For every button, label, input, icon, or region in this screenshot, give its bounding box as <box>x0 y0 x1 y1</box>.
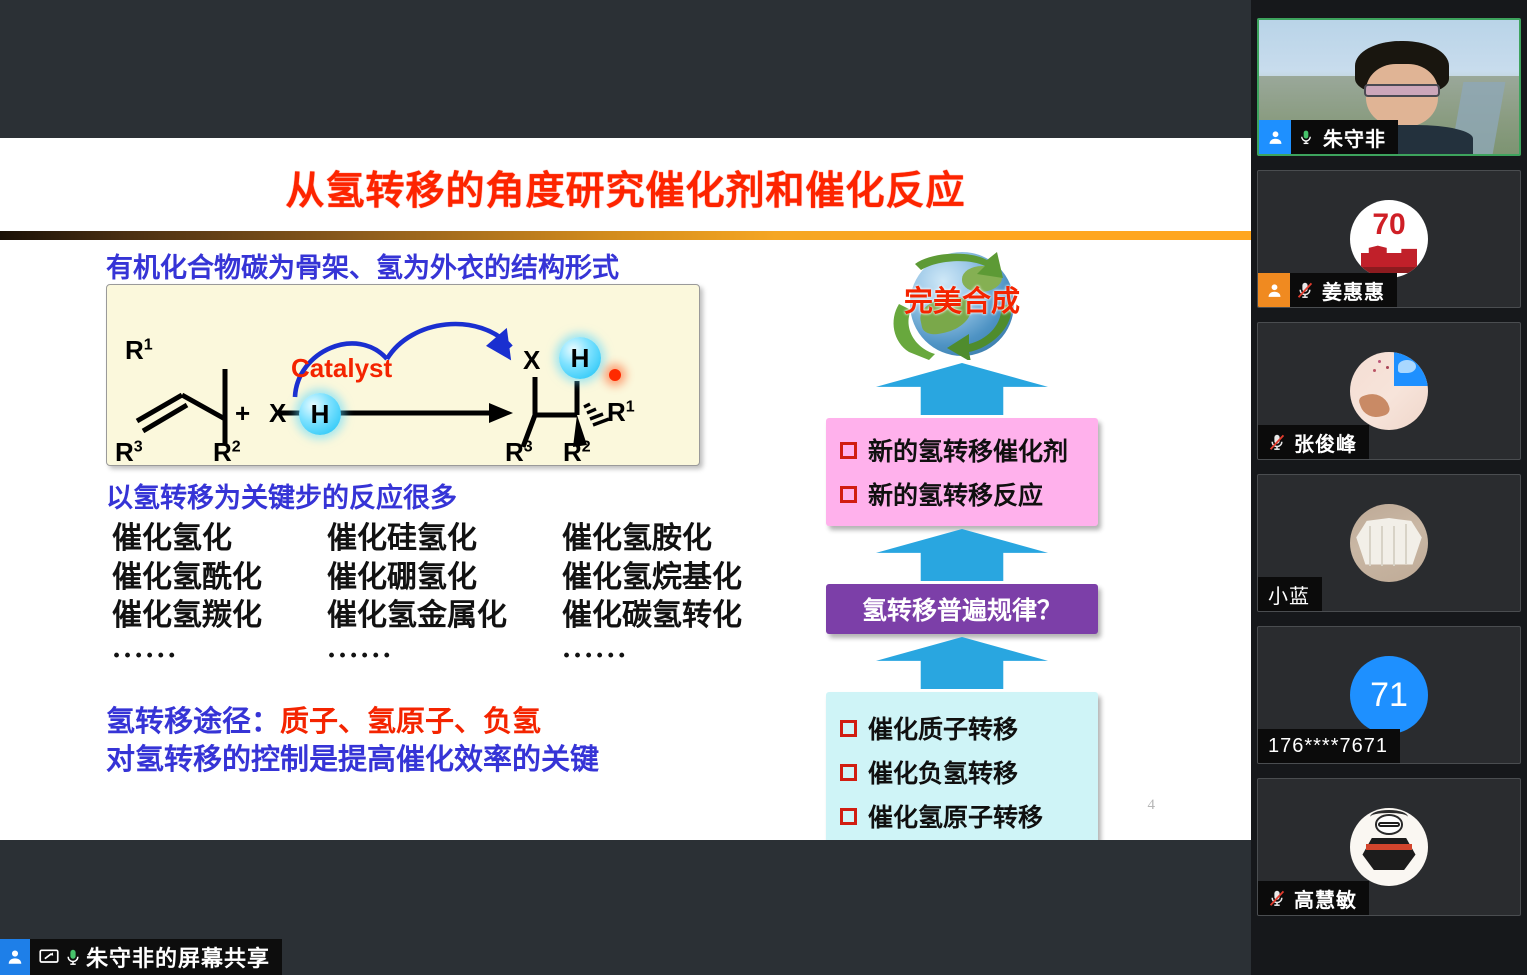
reaction-item: 催化氢化 <box>112 521 327 558</box>
participant-namebar: 小蓝 <box>1258 577 1322 611</box>
person-glyph <box>1267 129 1284 146</box>
flow-box-general-rules: 氢转移普遍规律？ <box>826 584 1098 634</box>
participant-namebar: 姜惠惠 <box>1258 273 1397 307</box>
label-r2-product: R2 <box>563 437 591 466</box>
participant-name: 朱守非 <box>1321 123 1398 152</box>
microphone-icon <box>64 946 82 968</box>
label-r1-left: R1 <box>125 335 153 366</box>
square-bullet-icon <box>840 764 857 781</box>
flow-bullet-label: 新的氢转移催化剂 <box>868 432 1068 468</box>
subtitle-structure-form: 有机化合物碳为骨架、氢为外衣的结构形式 <box>106 246 619 285</box>
square-bullet-icon <box>840 808 857 825</box>
flow-arrow-up <box>876 529 1048 581</box>
avatar-photo-leaf <box>1358 389 1391 421</box>
square-bullet-icon <box>840 720 857 737</box>
participant-namebar: 朱守非 <box>1259 120 1398 154</box>
flow-bullet: 新的氢转移反应 <box>840 472 1092 516</box>
participant-name: 小蓝 <box>1258 580 1322 609</box>
participant-tile[interactable]: 朱守非 <box>1257 18 1521 156</box>
footer-line-1: 氢转移途径：质子、氢原子、负氢 <box>106 702 599 740</box>
flow-box-transfer-types: 催化质子转移 催化负氢转移 催化氢原子转移 <box>826 692 1098 840</box>
footer-pathways-label: 氢转移途径： <box>106 704 280 738</box>
flow-bullet: 新的氢转移催化剂 <box>840 428 1092 472</box>
participant-name: 高慧敏 <box>1292 884 1369 913</box>
flow-bullet: 催化氢原子转移 <box>840 794 1092 838</box>
avatar-photo-marks <box>1378 360 1381 363</box>
participant-namebar: 高慧敏 <box>1258 881 1369 915</box>
participant-namebar: 张俊峰 <box>1258 425 1369 459</box>
radical-dot-icon <box>609 369 621 381</box>
flow-bullet: 催化质子转移 <box>840 706 1092 750</box>
participant-avatar: 70 <box>1350 200 1428 278</box>
screen-share-region: 从氢转移的角度研究催化剂和催化反应 有机化合物碳为骨架、氢为外衣的结构形式 <box>0 0 1251 975</box>
label-r3-left: R3 <box>115 437 143 466</box>
reaction-ellipsis: ······ <box>327 637 562 673</box>
reaction-ellipsis: ······ <box>112 637 327 673</box>
reaction-item: 催化碳氢转化 <box>562 598 802 635</box>
share-bar-content: 朱守非的屏幕共享 <box>30 939 282 975</box>
share-bar-label: 朱守非的屏幕共享 <box>86 941 270 973</box>
flow-bullet-label: 新的氢转移反应 <box>868 476 1043 512</box>
avatar-sketch-body <box>1362 838 1415 871</box>
avatar-logo-building <box>1361 244 1417 267</box>
label-x-product: X <box>523 345 540 376</box>
screen-share-status-bar: 朱守非的屏幕共享 <box>0 939 282 975</box>
glasses-icon <box>1364 84 1439 96</box>
person-icon <box>0 939 30 975</box>
label-plus: + <box>235 398 250 429</box>
square-bullet-icon <box>840 486 857 503</box>
mic-muted-icon[interactable] <box>1262 881 1292 915</box>
mic-muted-icon[interactable] <box>1262 425 1292 459</box>
flow-bullet-label: 催化质子转移 <box>868 710 1018 746</box>
mic-on-icon[interactable] <box>1291 120 1321 154</box>
slide-title: 从氢转移的角度研究催化剂和催化反应 <box>0 160 1251 216</box>
person-glyph <box>6 948 24 966</box>
avatar-photo-sky <box>1394 352 1428 386</box>
flow-box-label: 氢转移普遍规律？ <box>862 596 1062 625</box>
participant-avatar: 71 <box>1350 656 1428 734</box>
flow-diagram: 完美合成 新的氢转移催化剂 新的氢转移反应 氢转移普遍规律？ <box>812 248 1112 840</box>
label-x-reagent: X <box>269 398 286 429</box>
participants-filmstrip[interactable]: 朱守非 70 <box>1251 0 1527 975</box>
participant-tile[interactable]: 70 <box>1257 170 1521 308</box>
subtitle-many-reactions: 以氢转移为关键步的反应很多 <box>106 476 457 515</box>
microphone-muted-glyph <box>1296 280 1314 300</box>
flow-arrow-up <box>876 363 1048 415</box>
globe-label: 完美合成 <box>892 278 1032 320</box>
footer-pathways-values: 质子、氢原子、负氢 <box>280 704 541 738</box>
catalyst-label: Catalyst <box>291 353 392 384</box>
app-root: 从氢转移的角度研究催化剂和催化反应 有机化合物碳为骨架、氢为外衣的结构形式 <box>0 0 1527 975</box>
participant-tile[interactable]: 71 176****7671 <box>1257 626 1521 764</box>
avatar-logo-caption <box>1362 267 1415 272</box>
avatar-photo-shirt <box>1356 518 1422 566</box>
avatar-initials: 71 <box>1370 676 1408 715</box>
host-badge-icon <box>1258 273 1290 307</box>
reaction-item: 催化硼氢化 <box>327 560 562 597</box>
mic-muted-icon[interactable] <box>1290 273 1320 307</box>
title-divider <box>0 231 1251 240</box>
hydrogen-ball-reagent: H <box>299 393 341 435</box>
avatar-sketch-stripe <box>1366 844 1413 850</box>
label-r2-left: R2 <box>213 437 241 466</box>
participant-namebar: 176****7671 <box>1258 729 1400 763</box>
globe-graphic: 完美合成 <box>892 248 1032 360</box>
flow-bullet: 催化负氢转移 <box>840 750 1092 794</box>
participant-name: 张俊峰 <box>1292 428 1369 457</box>
microphone-muted-glyph <box>1268 888 1286 908</box>
avatar-logo-number: 70 <box>1350 208 1428 242</box>
reaction-ellipsis: ······ <box>562 637 802 673</box>
participant-tile[interactable]: 小蓝 <box>1257 474 1521 612</box>
label-r3-product: R3 <box>505 437 533 466</box>
avatar-photo-folds <box>1369 526 1371 567</box>
flow-bullet-label: 催化氢原子转移 <box>868 798 1043 834</box>
participant-name: 176****7671 <box>1258 735 1400 758</box>
footer-line-2: 对氢转移的控制是提高催化效率的关键 <box>106 740 599 778</box>
participant-avatar <box>1350 352 1428 430</box>
reaction-scheme-figure: R1 R2 R3 + X H Catalyst X H R1 R2 R3 <box>106 284 700 466</box>
slide-page-number: 4 <box>1148 797 1156 814</box>
reaction-type-list: 催化氢化 催化硅氢化 催化氢胺化 催化氢酰化 催化硼氢化 催化氢烷基化 催化氢羰… <box>112 521 802 673</box>
microphone-muted-glyph <box>1268 432 1286 452</box>
hydrogen-ball-product: H <box>559 337 601 379</box>
slide-footer-text: 氢转移途径：质子、氢原子、负氢 对氢转移的控制是提高催化效率的关键 <box>106 702 599 779</box>
flow-bullet-label: 催化负氢转移 <box>868 754 1018 790</box>
participant-name: 姜惠惠 <box>1320 276 1397 305</box>
flow-box-new-catalysts: 新的氢转移催化剂 新的氢转移反应 <box>826 418 1098 526</box>
reaction-item: 催化氢胺化 <box>562 521 802 558</box>
flow-arrow-up <box>876 637 1048 689</box>
reaction-item: 催化氢酰化 <box>112 560 327 597</box>
person-glyph <box>1266 282 1283 299</box>
screen-share-icon <box>38 947 60 967</box>
reaction-item: 催化氢烷基化 <box>562 560 802 597</box>
square-bullet-icon <box>840 442 857 459</box>
avatar-sketch-glasses <box>1378 822 1400 827</box>
reaction-item: 催化氢金属化 <box>327 598 562 635</box>
presentation-slide: 从氢转移的角度研究催化剂和催化反应 有机化合物碳为骨架、氢为外衣的结构形式 <box>0 138 1251 840</box>
microphone-glyph <box>1298 127 1314 147</box>
participant-avatar <box>1350 504 1428 582</box>
reaction-item: 催化硅氢化 <box>327 521 562 558</box>
participant-tile[interactable]: 张俊峰 <box>1257 322 1521 460</box>
participant-avatar <box>1350 808 1428 886</box>
participant-tile[interactable]: 高慧敏 <box>1257 778 1521 916</box>
reaction-item: 催化氢羰化 <box>112 598 327 635</box>
host-badge-icon <box>1259 120 1291 154</box>
label-r1-product: R1 <box>607 397 635 428</box>
